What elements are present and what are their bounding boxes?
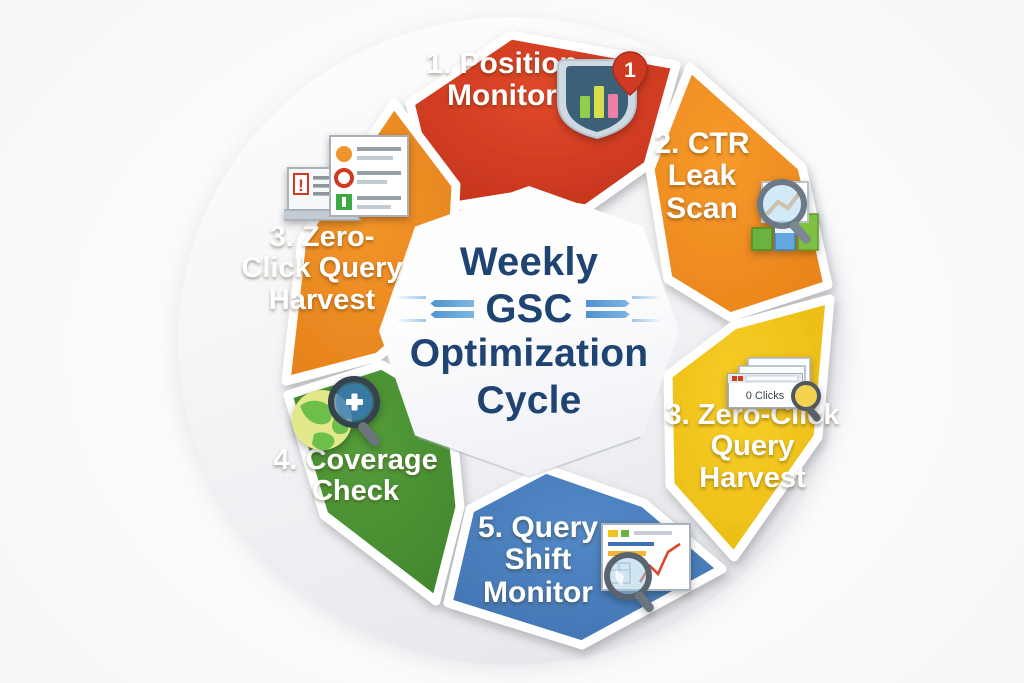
hub-title-line-3: Optimization bbox=[410, 334, 649, 373]
hub-center: Weekly GSC Optimization Cycle bbox=[379, 186, 679, 476]
chevron-left-accent-icon bbox=[422, 294, 480, 324]
diagram-canvas: Weekly GSC Optimization Cycle 1. Positio… bbox=[0, 0, 1024, 683]
hub-title-line-1: Weekly bbox=[460, 242, 598, 282]
alert-exclamation-glyph: ! bbox=[298, 176, 304, 195]
hub-title-line-4: Cycle bbox=[476, 381, 581, 420]
browser-windows-magnifier-icon: 0 Clicks bbox=[722, 356, 826, 428]
report-magnifier-icon bbox=[588, 518, 694, 618]
hub-face: Weekly GSC Optimization Cycle bbox=[379, 186, 679, 476]
globe-magnifier-plus-icon bbox=[284, 372, 388, 464]
magnifier-chart-icon bbox=[738, 176, 834, 272]
shield-bar-chart-icon: 1 bbox=[552, 44, 656, 148]
hub-title-middle-row: GSC bbox=[379, 289, 679, 329]
laptop-alert-checklist-icon: ! bbox=[284, 132, 412, 236]
chevron-right-accent-icon bbox=[578, 294, 636, 324]
zero-clicks-text: 0 Clicks bbox=[746, 390, 785, 402]
hub-title-line-2: GSC bbox=[480, 289, 577, 329]
shield-badge-count: 1 bbox=[624, 59, 636, 82]
